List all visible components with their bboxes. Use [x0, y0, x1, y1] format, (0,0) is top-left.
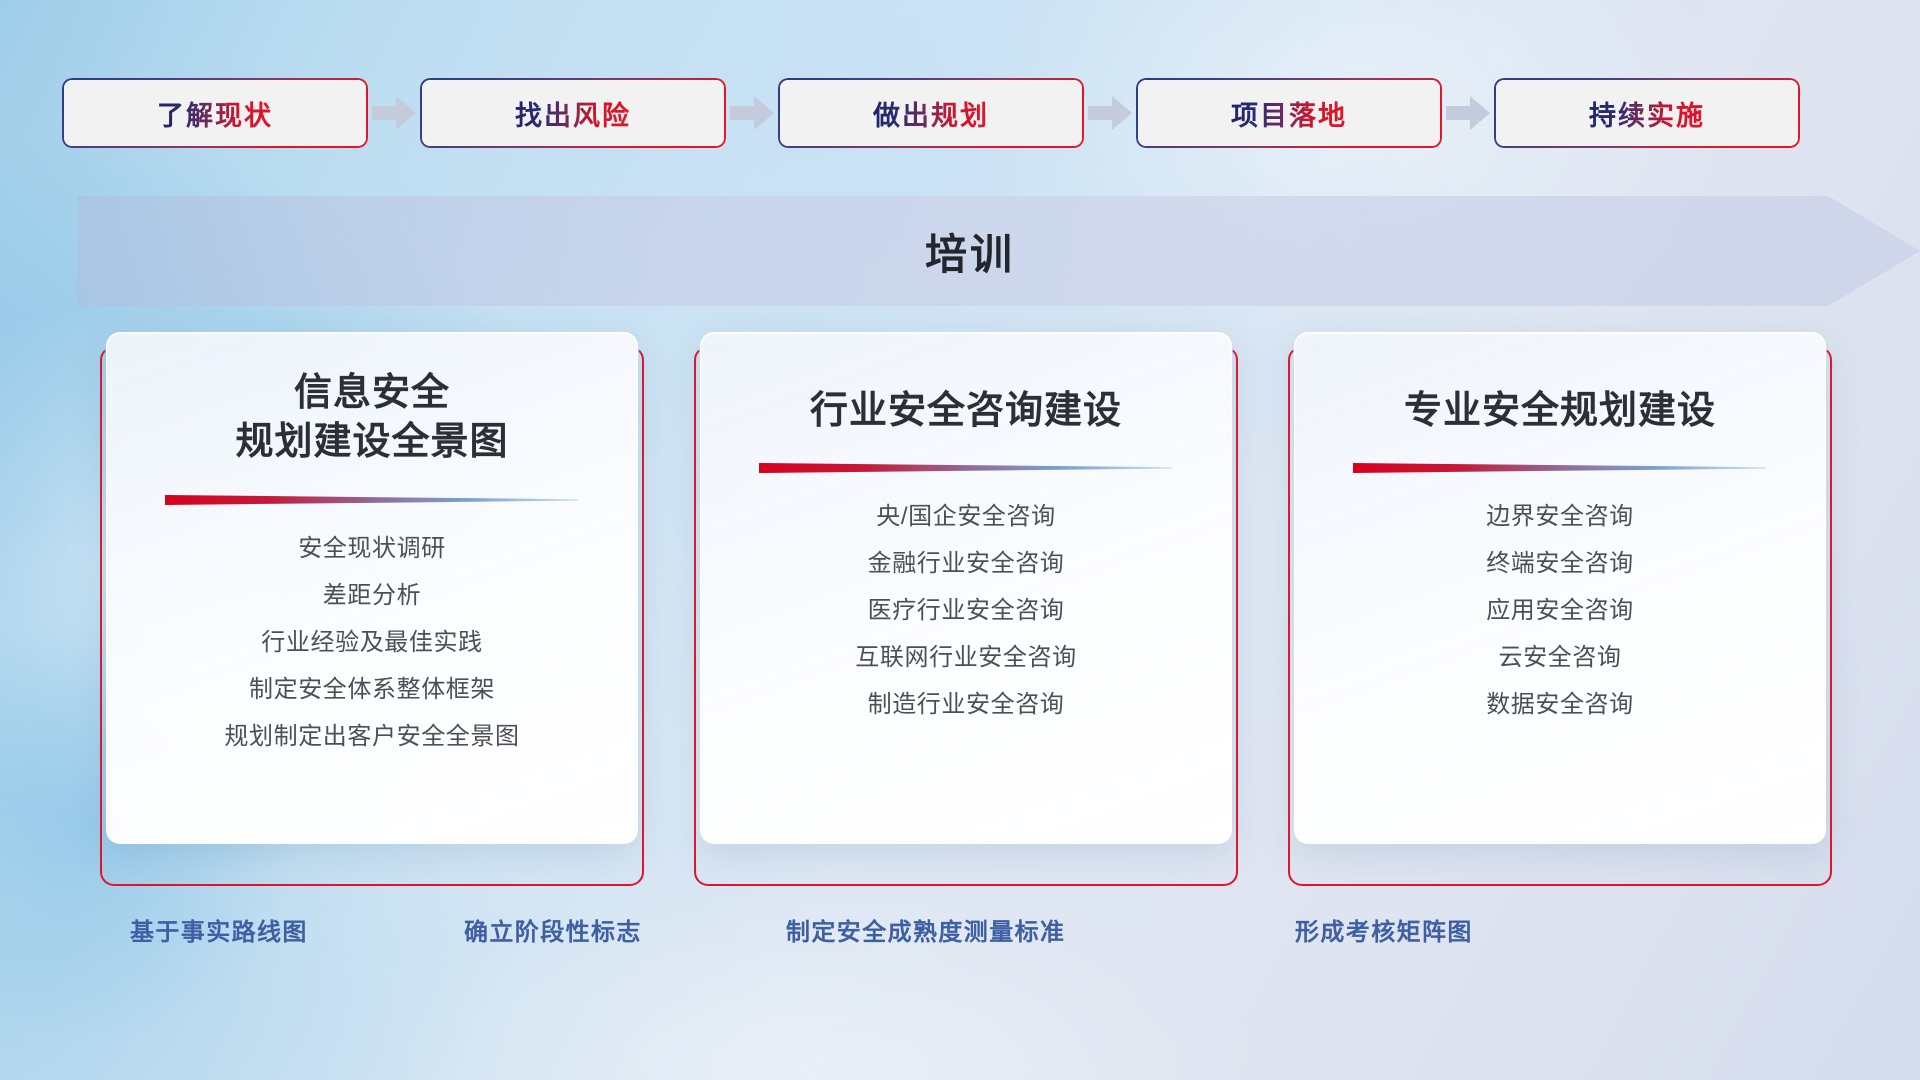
card-title: 行业安全咨询建设	[810, 387, 1122, 436]
step-chip-inner: 持续实施	[1496, 80, 1798, 146]
step-chip-1[interactable]: 了解现状	[62, 78, 368, 148]
card-wrapper-3: 专业安全规划建设	[1294, 332, 1826, 872]
list-item: 规划制定出客户安全全景图	[224, 716, 519, 757]
list-item: 云安全咨询	[1499, 637, 1622, 678]
step-chip-inner: 了解现状	[64, 80, 366, 146]
list-item: 互联网行业安全咨询	[855, 637, 1076, 678]
background-glow	[980, 0, 1740, 380]
banner-title: 培训	[0, 196, 1920, 306]
step-label: 了解现状	[157, 94, 273, 133]
step-chip-4[interactable]: 项目落地	[1136, 78, 1442, 148]
list-item: 应用安全咨询	[1486, 590, 1634, 631]
list-item: 差距分析	[323, 575, 421, 616]
step-chip-5[interactable]: 持续实施	[1494, 78, 1800, 148]
list-item: 安全现状调研	[298, 528, 446, 569]
footer-label-1: 基于事实路线图	[130, 912, 308, 947]
footer-label-row: 基于事实路线图 确立阶段性标志 制定安全成熟度测量标准 形成考核矩阵图	[0, 912, 1920, 962]
training-banner: 培训	[0, 196, 1920, 306]
card-list: 安全现状调研 差距分析 行业经验及最佳实践 制定安全体系整体框架 规划制定出客户…	[107, 528, 637, 757]
background-glow	[380, 880, 1280, 1080]
step-chip-inner: 项目落地	[1138, 80, 1440, 146]
card-professional-security-planning[interactable]: 专业安全规划建设	[1294, 332, 1826, 844]
card-divider	[1353, 462, 1766, 474]
step-label: 做出规划	[873, 94, 989, 133]
footer-label-4: 形成考核矩阵图	[1295, 912, 1473, 947]
card-list: 央/国企安全咨询 金融行业安全咨询 医疗行业安全咨询 互联网行业安全咨询 制造行…	[701, 496, 1231, 725]
list-item: 边界安全咨询	[1486, 496, 1634, 537]
step-chip-inner: 做出规划	[780, 80, 1082, 146]
list-item: 制造行业安全咨询	[868, 684, 1065, 725]
card-wrapper-1: 信息安全 规划建设全景图	[106, 332, 638, 872]
list-item: 终端安全咨询	[1486, 543, 1634, 584]
step-chip-inner: 找出风险	[422, 80, 724, 146]
card-industry-security-consulting[interactable]: 行业安全咨询建设	[700, 332, 1232, 844]
list-item: 制定安全体系整体框架	[249, 669, 495, 710]
footer-label-2: 确立阶段性标志	[464, 912, 642, 947]
list-item: 行业经验及最佳实践	[261, 622, 482, 663]
infographic-canvas: 了解现状 找出风险 做出规划	[0, 0, 1920, 1080]
step-chip-3[interactable]: 做出规划	[778, 78, 1084, 148]
arrow-right-icon	[726, 78, 778, 148]
list-item: 金融行业安全咨询	[868, 543, 1065, 584]
arrow-right-icon	[1442, 78, 1494, 148]
card-group: 信息安全 规划建设全景图	[106, 332, 1826, 872]
list-item: 央/国企安全咨询	[876, 496, 1055, 537]
card-wrapper-2: 行业安全咨询建设	[700, 332, 1232, 872]
card-divider	[165, 494, 578, 506]
list-item: 医疗行业安全咨询	[868, 590, 1065, 631]
step-chip-2[interactable]: 找出风险	[420, 78, 726, 148]
step-label: 持续实施	[1589, 94, 1705, 133]
footer-label-3: 制定安全成熟度测量标准	[786, 912, 1065, 947]
arrow-right-icon	[368, 78, 420, 148]
card-list: 边界安全咨询 终端安全咨询 应用安全咨询 云安全咨询 数据安全咨询	[1295, 496, 1825, 725]
arrow-right-icon	[1084, 78, 1136, 148]
step-label: 找出风险	[515, 94, 631, 133]
card-title: 信息安全 规划建设全景图	[235, 369, 508, 468]
process-step-row: 了解现状 找出风险 做出规划	[62, 78, 1800, 148]
card-information-security-panorama[interactable]: 信息安全 规划建设全景图	[106, 332, 638, 844]
card-divider	[759, 462, 1172, 474]
step-label: 项目落地	[1231, 94, 1347, 133]
card-title: 专业安全规划建设	[1404, 387, 1716, 436]
list-item: 数据安全咨询	[1486, 684, 1634, 725]
